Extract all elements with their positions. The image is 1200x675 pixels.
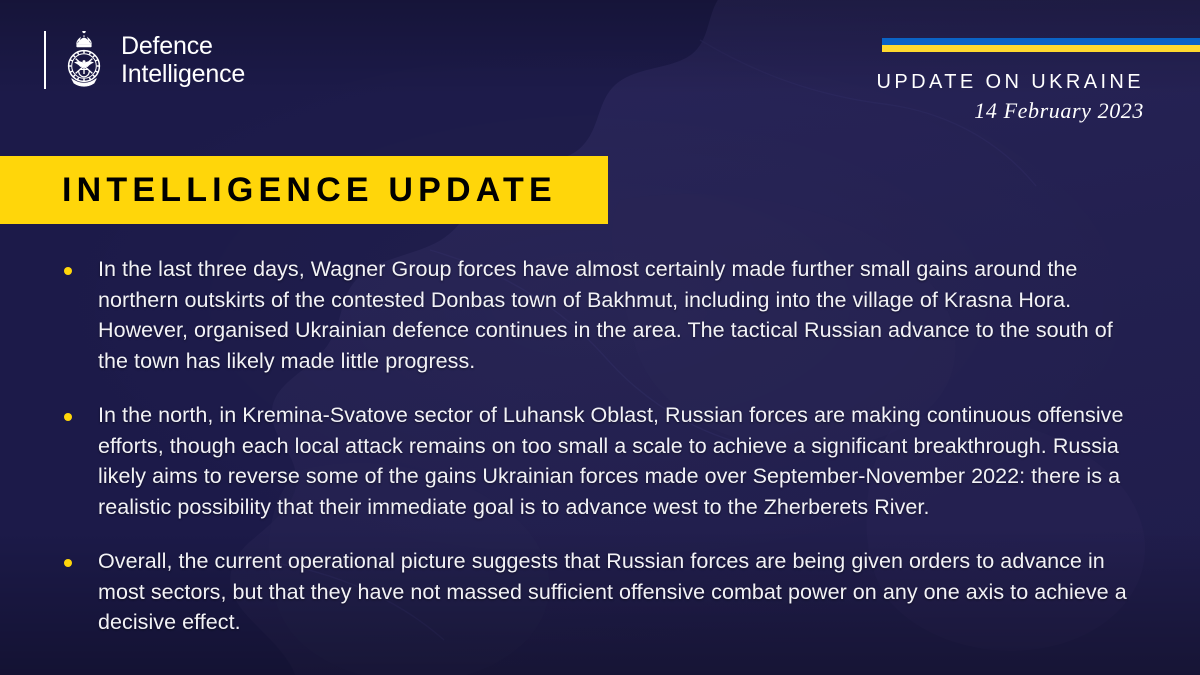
update-heading-block: UPDATE ON UKRAINE 14 February 2023	[877, 70, 1144, 124]
banner-title: INTELLIGENCE UPDATE	[62, 171, 557, 210]
intelligence-update-graphic: Defence Intelligence UPDATE ON UKRAINE 1…	[0, 0, 1200, 675]
list-item: In the north, in Kremina-Svatove sector …	[64, 400, 1146, 522]
list-item: Overall, the current operational picture…	[64, 546, 1146, 638]
logo-wordmark: Defence Intelligence	[121, 32, 245, 89]
list-item: In the last three days, Wagner Group for…	[64, 254, 1146, 376]
flag-stripe-yellow	[882, 45, 1200, 52]
bullet-text: In the north, in Kremina-Svatove sector …	[98, 400, 1146, 522]
intelligence-update-banner: INTELLIGENCE UPDATE	[0, 156, 608, 224]
defence-intelligence-logo: Defence Intelligence	[44, 29, 245, 91]
bullet-dot-icon	[64, 559, 72, 567]
logo-line-1: Defence	[121, 32, 245, 61]
bullet-list: In the last three days, Wagner Group for…	[64, 254, 1146, 638]
bullet-dot-icon	[64, 267, 72, 275]
update-date: 14 February 2023	[877, 98, 1144, 124]
bullet-text: In the last three days, Wagner Group for…	[98, 254, 1146, 376]
ukraine-flag-bar-icon	[882, 38, 1200, 52]
logo-line-2: Intelligence	[121, 60, 245, 89]
update-title: UPDATE ON UKRAINE	[877, 70, 1144, 94]
logo-divider-rule	[44, 31, 46, 89]
bullet-dot-icon	[64, 413, 72, 421]
bullet-text: Overall, the current operational picture…	[98, 546, 1146, 638]
flag-stripe-blue	[882, 38, 1200, 45]
defence-intelligence-crest-icon	[60, 31, 108, 89]
